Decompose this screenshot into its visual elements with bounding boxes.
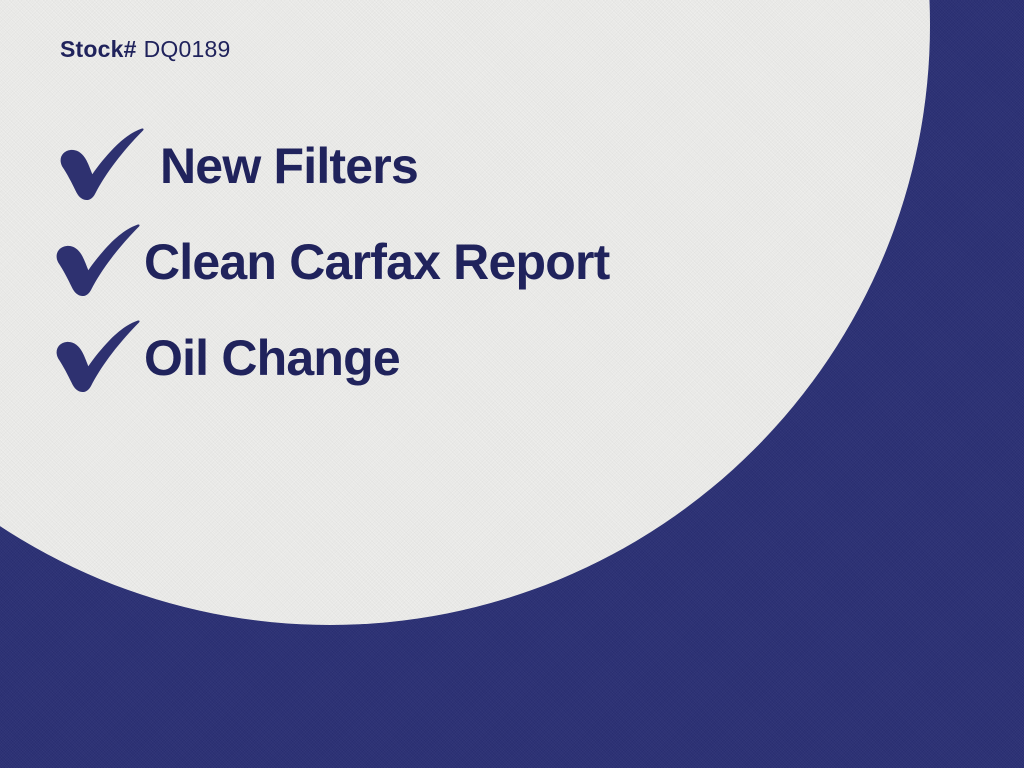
stock-number: Stock#DQ0189: [60, 36, 231, 63]
slide-content: Stock#DQ0189 New Filters Clean Carfax Re…: [0, 0, 1024, 768]
checkmark-icon: [56, 128, 148, 204]
vehicle-feature-slide: Stock#DQ0189 New Filters Clean Carfax Re…: [0, 0, 1024, 768]
checkmark-icon: [52, 320, 144, 396]
stock-number-value: DQ0189: [144, 36, 231, 62]
stock-number-label: Stock#: [60, 36, 137, 62]
feature-label: Oil Change: [144, 333, 400, 383]
feature-label: Clean Carfax Report: [144, 237, 610, 287]
feature-item: Clean Carfax Report: [50, 214, 810, 310]
feature-item: Oil Change: [50, 310, 810, 406]
feature-label: New Filters: [160, 141, 418, 191]
feature-item: New Filters: [50, 118, 810, 214]
feature-list: New Filters Clean Carfax Report Oil Chan…: [50, 118, 810, 406]
checkmark-icon: [52, 224, 144, 300]
